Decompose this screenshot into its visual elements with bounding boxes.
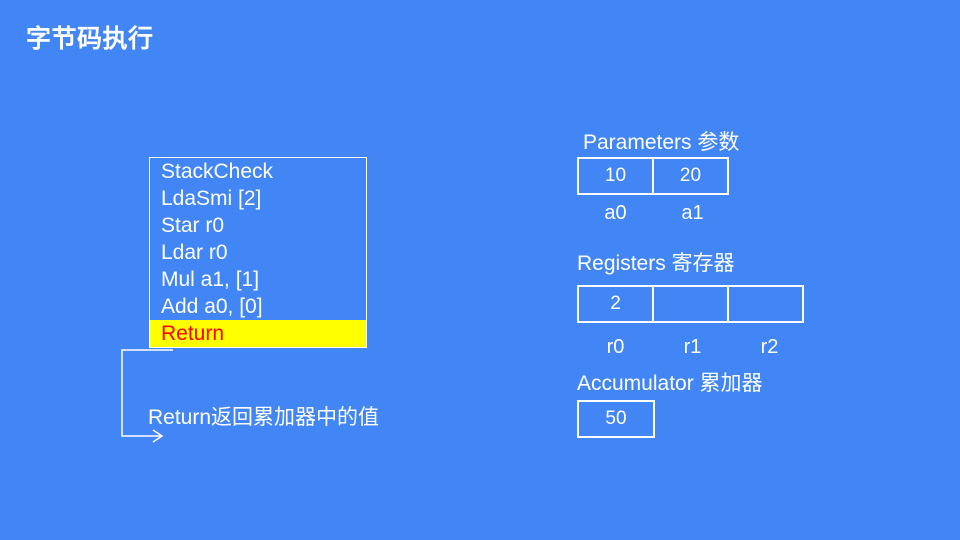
page-title: 字节码执行	[26, 19, 154, 55]
register-cell	[652, 285, 729, 323]
parameter-label: a0	[577, 202, 654, 225]
registers-heading: Registers 寄存器	[577, 247, 735, 277]
bytecode-line: LdaSmi [2]	[150, 185, 366, 212]
register-label: r1	[654, 336, 731, 359]
register-cell: 2	[577, 285, 654, 323]
accumulator-cell: 50	[577, 400, 655, 438]
bytecode-line: StackCheck	[150, 158, 366, 185]
bytecode-listing: StackCheck LdaSmi [2] Star r0 Ldar r0 Mu…	[149, 157, 367, 348]
register-label: r0	[577, 336, 654, 359]
bytecode-line: Add a0, [0]	[150, 293, 366, 320]
slide-canvas: 字节码执行 StackCheck LdaSmi [2] Star r0 Ldar…	[0, 0, 960, 540]
parameters-heading: Parameters 参数	[583, 126, 739, 156]
bytecode-line: Star r0	[150, 212, 366, 239]
parameters-cells: 10 20	[577, 157, 729, 195]
registers-cells: 2	[577, 285, 804, 323]
registers-labels: r0 r1 r2	[577, 336, 808, 359]
parameter-cell: 20	[652, 157, 729, 195]
bytecode-line: Ldar r0	[150, 239, 366, 266]
register-label: r2	[731, 336, 808, 359]
bytecode-line-highlighted: Return	[150, 320, 366, 347]
parameters-labels: a0 a1	[577, 202, 731, 225]
register-cell	[727, 285, 804, 323]
annotation-text: Return返回累加器中的值	[148, 403, 408, 433]
accumulator-heading: Accumulator 累加器	[577, 367, 763, 397]
parameter-label: a1	[654, 202, 731, 225]
bytecode-line: Mul a1, [1]	[150, 266, 366, 293]
accumulator-cells: 50	[577, 400, 655, 438]
parameter-cell: 10	[577, 157, 654, 195]
